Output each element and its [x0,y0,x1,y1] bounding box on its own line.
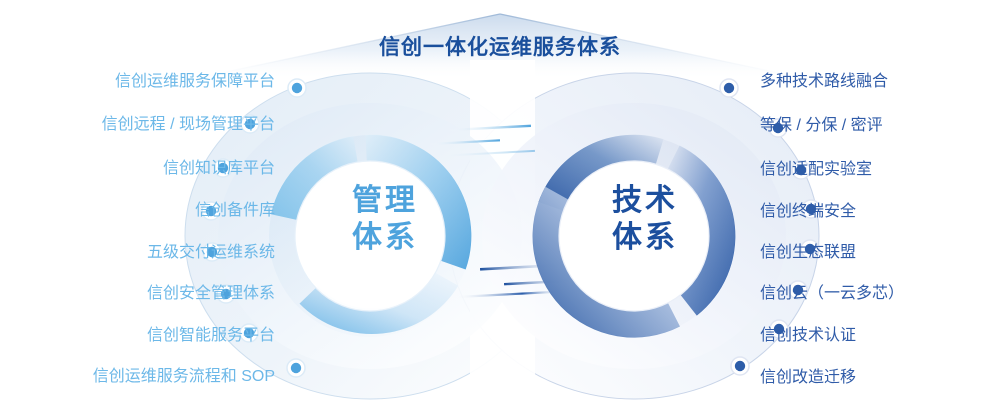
right-item-0[interactable]: 多种技术路线融合 [760,74,888,90]
left-ring-caption: 管理 体系 [305,183,465,256]
left-item-3[interactable]: 信创备件库 [195,203,275,219]
right-item-4[interactable]: 信创生态联盟 [760,245,856,261]
right-ring-caption: 技术 体系 [565,183,725,256]
right-ring-caption-line2: 体系 [565,220,725,257]
left-item-1[interactable]: 信创远程 / 现场管理平台 [102,117,275,133]
right-ring-caption-line1: 技术 [565,183,725,220]
left-item-6[interactable]: 信创智能服务平台 [147,328,275,344]
infographic-canvas: 信创一体化运维服务体系 管理 体系 技术 体系 信创运维服务保障平台 信创远程 … [0,0,1000,408]
node-dot-icon[interactable] [288,79,306,97]
right-item-2[interactable]: 信创适配实验室 [760,162,872,178]
left-item-2[interactable]: 信创知识库平台 [163,161,275,177]
right-item-1[interactable]: 等保 / 分保 / 密评 [760,118,883,134]
left-ring-caption-line2: 体系 [305,220,465,257]
left-item-0[interactable]: 信创运维服务保障平台 [115,74,275,90]
left-item-7[interactable]: 信创运维服务流程和 SOP [93,369,275,385]
right-item-7[interactable]: 信创改造迁移 [760,370,856,386]
right-item-6[interactable]: 信创技术认证 [760,328,856,344]
node-dot-icon[interactable] [287,359,305,377]
left-item-5[interactable]: 信创安全管理体系 [147,286,275,302]
left-ring-caption-line1: 管理 [305,183,465,220]
right-item-5[interactable]: 信创云（一云多芯） [760,286,904,302]
node-dot-icon[interactable] [720,79,738,97]
right-item-3[interactable]: 信创终端安全 [760,204,856,220]
node-dot-icon[interactable] [731,357,749,375]
page-title: 信创一体化运维服务体系 [0,31,1000,61]
left-item-4[interactable]: 五级交付运维系统 [147,245,275,261]
